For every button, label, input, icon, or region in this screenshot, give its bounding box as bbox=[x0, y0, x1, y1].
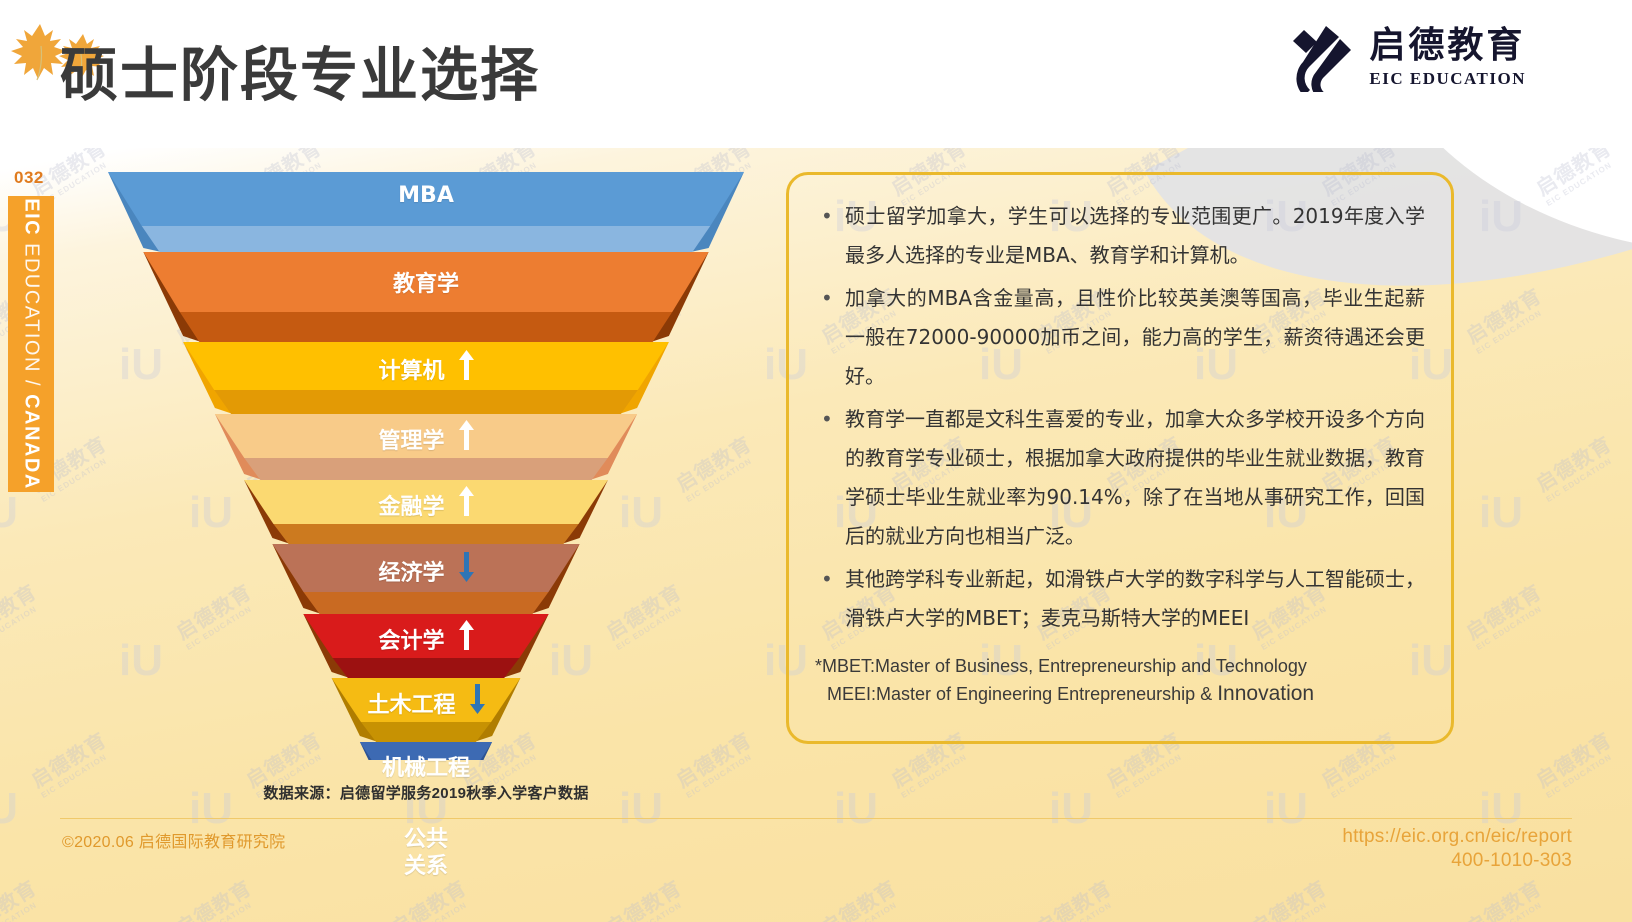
watermark-text: 启德教育EIC EDUCATION bbox=[818, 878, 905, 922]
brand-logo: 启德教育 EIC EDUCATION bbox=[1277, 22, 1526, 92]
funnel-shade-strip bbox=[214, 390, 638, 414]
side-tab-education: EDUCATION / bbox=[21, 236, 43, 387]
funnel-chart: MBA教育学计算机管理学金融学经济学会计学土木工程机械工程公共关系 bbox=[96, 160, 756, 760]
funnel-segment-1[interactable] bbox=[108, 172, 744, 252]
footer-url[interactable]: https://eic.org.cn/eic/report bbox=[1342, 826, 1572, 848]
watermark-text: 启德教育EIC EDUCATION bbox=[1533, 138, 1620, 208]
footer-divider bbox=[60, 818, 1572, 819]
side-tab: EIC EDUCATION / CANADA bbox=[8, 196, 54, 492]
watermark-mark: iU bbox=[0, 784, 18, 834]
watermark-mark: iU bbox=[834, 784, 878, 834]
bullet-item: 教育学一直都是文科生喜爱的专业，加拿大众多学校开设多个方向的教育学专业硕士，根据… bbox=[815, 400, 1425, 556]
footer-copyright: ©2020.06 启德国际教育研究院 bbox=[62, 828, 285, 852]
funnel-segment-9[interactable] bbox=[360, 742, 492, 760]
funnel-face bbox=[244, 480, 608, 524]
side-tab-eic: EIC bbox=[21, 198, 43, 236]
watermark-text: 启德教育EIC EDUCATION bbox=[1533, 730, 1620, 800]
funnel-shade-strip bbox=[304, 592, 549, 614]
watermark-text: 启德教育EIC EDUCATION bbox=[1033, 878, 1120, 922]
funnel-face bbox=[143, 252, 708, 312]
funnel-face bbox=[360, 742, 492, 760]
funnel-segment-7[interactable] bbox=[303, 614, 548, 678]
chart-source-caption: 数据来源：启德留学服务2019秋季入学客户数据 bbox=[96, 782, 756, 803]
watermark-mark: iU bbox=[1479, 192, 1523, 242]
funnel-segment-3[interactable] bbox=[183, 342, 669, 414]
watermark-text: 启德教育EIC EDUCATION bbox=[173, 878, 260, 922]
bullet-item: 其他跨学科专业新起，如滑铁卢大学的数字科学与人工智能硕士，滑铁卢大学的MBET；… bbox=[815, 560, 1425, 638]
side-tab-canada: CANADA bbox=[21, 387, 43, 490]
watermark-mark: iU bbox=[1264, 784, 1308, 834]
funnel-label-text: 公共关系 bbox=[404, 827, 448, 879]
footer-phone: 400-1010-303 bbox=[1342, 850, 1572, 872]
funnel-shade-strip bbox=[244, 458, 607, 480]
footnote-mbet: *MBET:Master of Business, Entrepreneursh… bbox=[815, 652, 1425, 680]
funnel-shade-strip bbox=[333, 658, 520, 678]
funnel-shade-strip bbox=[361, 722, 491, 742]
footnotes: *MBET:Master of Business, Entrepreneursh… bbox=[815, 652, 1425, 708]
footnote-meei: MEEI:Master of Engineering Entrepreneurs… bbox=[815, 680, 1425, 708]
watermark-text: 启德教育EIC EDUCATION bbox=[603, 878, 690, 922]
eic-logo-icon bbox=[1277, 22, 1355, 92]
watermark-text: 启德教育EIC EDUCATION bbox=[0, 582, 46, 652]
watermark-text: 启德教育EIC EDUCATION bbox=[1463, 286, 1550, 356]
funnel-face bbox=[215, 414, 637, 458]
funnel-shade-strip bbox=[180, 312, 672, 342]
bullet-item: 硕士留学加拿大，学生可以选择的专业范围更广。2019年度入学最多人选择的专业是M… bbox=[815, 197, 1425, 275]
funnel-face bbox=[108, 172, 744, 226]
watermark-text: 启德教育EIC EDUCATION bbox=[1248, 878, 1335, 922]
funnel-face bbox=[332, 678, 521, 722]
footer-contact: https://eic.org.cn/eic/report 400-1010-3… bbox=[1342, 826, 1572, 872]
funnel-face bbox=[272, 544, 579, 592]
watermark-text: 启德教育EIC EDUCATION bbox=[388, 878, 475, 922]
side-tab-label: EIC EDUCATION / CANADA bbox=[20, 198, 43, 490]
funnel-segment-4[interactable] bbox=[215, 414, 637, 480]
footnote-meei-text: MEEI:Master of Engineering Entrepreneurs… bbox=[827, 684, 1217, 704]
funnel-segment-5[interactable] bbox=[244, 480, 608, 544]
logo-cn-text: 启德教育 bbox=[1369, 28, 1526, 64]
funnel-segment-8[interactable] bbox=[332, 678, 521, 742]
slide-canvas: 启德教育EIC EDUCATIONiU启德教育EIC EDUCATIONiU启德… bbox=[0, 0, 1632, 922]
info-panel: 硕士留学加拿大，学生可以选择的专业范围更广。2019年度入学最多人选择的专业是M… bbox=[786, 172, 1454, 744]
watermark-text: 启德教育EIC EDUCATION bbox=[1533, 434, 1620, 504]
watermark-text: 启德教育EIC EDUCATION bbox=[0, 878, 46, 922]
logo-en-text: EIC EDUCATION bbox=[1369, 70, 1526, 87]
watermark-text: 启德教育EIC EDUCATION bbox=[1463, 582, 1550, 652]
watermark-mark: iU bbox=[0, 488, 18, 538]
funnel-shade-strip bbox=[273, 524, 578, 544]
watermark-text: 启德教育EIC EDUCATION bbox=[1463, 878, 1550, 922]
page-title: 硕士阶段专业选择 bbox=[60, 46, 540, 104]
funnel-face bbox=[183, 342, 669, 390]
funnel-face bbox=[303, 614, 548, 658]
footnote-meei-emphasis: Innovation bbox=[1217, 682, 1314, 705]
bullet-item: 加拿大的MBA含金量高，且性价比较英美澳等国高，毕业生起薪一般在72000-90… bbox=[815, 279, 1425, 396]
page-number: 032 bbox=[14, 168, 44, 188]
funnel-shade-strip bbox=[142, 226, 710, 252]
watermark-mark: iU bbox=[1049, 784, 1093, 834]
funnel-segment-2[interactable] bbox=[143, 252, 708, 342]
bullet-list: 硕士留学加拿大，学生可以选择的专业范围更广。2019年度入学最多人选择的专业是M… bbox=[815, 197, 1425, 638]
funnel-segment-6[interactable] bbox=[272, 544, 579, 614]
watermark-mark: iU bbox=[1479, 488, 1523, 538]
funnel-svg bbox=[96, 160, 756, 760]
